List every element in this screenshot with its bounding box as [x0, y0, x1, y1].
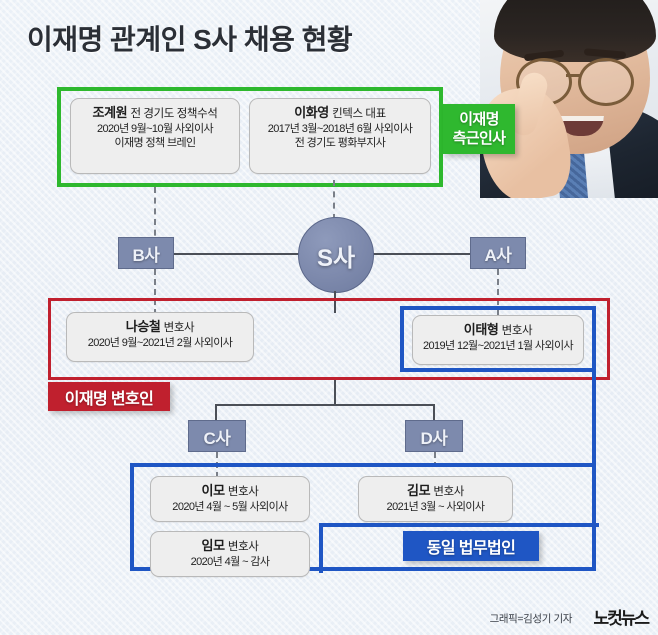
- outline-riser-mid: [319, 523, 323, 573]
- card-title: 임모 변호사: [151, 538, 309, 555]
- person-role: 변호사: [228, 541, 259, 553]
- node-company-a[interactable]: A사: [470, 237, 526, 269]
- card-title: 김모 변호사: [359, 483, 512, 500]
- card-title: 이화영 킨텍스 대표: [250, 105, 430, 122]
- card-im-mo: 임모 변호사 2020년 4월 ~ 감사: [150, 531, 310, 577]
- card-kim-mo: 김모 변호사 2021년 3월 ~ 사외이사: [358, 476, 513, 522]
- connector-lee-hwayoung-to-s: [333, 180, 335, 220]
- person-role: 킨텍스 대표: [332, 108, 386, 120]
- person-role: 변호사: [502, 325, 533, 337]
- card-lee-hwayoung: 이화영 킨텍스 대표 2017년 3월~2018년 6월 사외이사 전 경기도 …: [249, 98, 431, 174]
- node-company-s[interactable]: S사: [298, 217, 374, 293]
- legend-line-2: 측근인사: [453, 129, 506, 148]
- portrait-photo: [480, 0, 658, 198]
- legend-close-associates: 이재명 측근인사: [443, 104, 515, 154]
- page-title: 이재명 관계인 S사 채용 현황: [27, 18, 352, 58]
- graphic-credit: 그래픽=김성기 기자: [490, 611, 572, 626]
- card-detail-2: 전 경기도 평화부지사: [250, 136, 430, 150]
- card-detail-1: 2021년 3월 ~ 사외이사: [359, 500, 512, 514]
- person-name: 김모: [407, 483, 430, 498]
- connector-b-to-s: [171, 253, 311, 255]
- legend-defense-lawyers: 이재명 변호인: [48, 382, 170, 411]
- node-company-b[interactable]: B사: [118, 237, 174, 269]
- card-na-seungchul: 나승철 변호사 2020년 9월~2021년 2월 사외이사: [66, 312, 254, 362]
- person-role: 변호사: [433, 486, 464, 498]
- person-name: 조계원: [93, 105, 128, 120]
- card-detail-1: 2020년 9월~2021년 2월 사외이사: [67, 336, 253, 350]
- person-name: 나승철: [126, 319, 161, 334]
- connector-s-to-a: [360, 253, 474, 255]
- person-name: 이화영: [294, 105, 329, 120]
- outlet-logo: 노컷뉴스: [593, 604, 648, 629]
- card-title: 이태형 변호사: [413, 322, 583, 339]
- person-name: 이태형: [464, 322, 499, 337]
- card-lee-mo: 이모 변호사 2020년 4월 ~ 5월 사외이사: [150, 476, 310, 522]
- legend-same-law-firm: 동일 법무법인: [403, 531, 539, 561]
- card-jo-gyewon: 조계원 전 경기도 정책수석 2020년 9월~10월 사외이사 이재명 정책 …: [70, 98, 240, 174]
- infographic-canvas: 이재명 관계인 S사 채용 현황 조계원 전 경기도 정책수석 2020년 9월…: [0, 0, 658, 635]
- card-detail-1: 2019년 12월~2021년 1월 사외이사: [413, 339, 583, 353]
- card-title: 이모 변호사: [151, 483, 309, 500]
- card-detail-1: 2020년 9월~10월 사외이사: [71, 122, 239, 136]
- card-lee-taehyung: 이태형 변호사 2019년 12월~2021년 1월 사외이사: [412, 315, 584, 365]
- outlet-name: 노컷뉴스: [593, 609, 648, 629]
- node-company-c[interactable]: C사: [188, 420, 246, 452]
- card-detail-2: 이재명 정책 브레인: [71, 136, 239, 150]
- card-detail-1: 2020년 4월 ~ 5월 사외이사: [151, 500, 309, 514]
- card-detail-1: 2020년 4월 ~ 감사: [151, 555, 309, 569]
- person-role: 변호사: [164, 322, 195, 334]
- node-company-d[interactable]: D사: [405, 420, 463, 452]
- legend-line-1: 이재명: [459, 110, 499, 129]
- connector-red-down: [334, 380, 336, 404]
- person-name: 임모: [202, 538, 225, 553]
- person-role: 전 경기도 정책수석: [130, 108, 217, 120]
- person-role: 변호사: [228, 486, 259, 498]
- connector-cd-bus: [215, 404, 435, 406]
- outline-riser-right: [592, 368, 596, 568]
- person-name: 이모: [202, 483, 225, 498]
- card-title: 나승철 변호사: [67, 319, 253, 336]
- card-detail-1: 2017년 3월~2018년 6월 사외이사: [250, 122, 430, 136]
- card-title: 조계원 전 경기도 정책수석: [71, 105, 239, 122]
